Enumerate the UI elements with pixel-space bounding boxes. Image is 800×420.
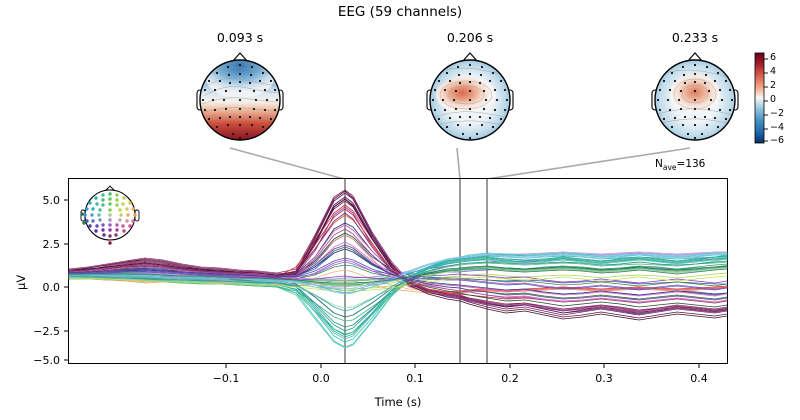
xtick-label-3: 0.2 (480, 372, 540, 385)
butterfly-traces (69, 179, 727, 363)
x-axis-label: Time (s) (268, 395, 528, 409)
butterfly-axes[interactable] (68, 178, 728, 364)
xtick-marks (68, 364, 728, 372)
xtick-label-0: −0.1 (196, 372, 256, 385)
ytick-marks (60, 178, 70, 364)
eeg-joint-plot-figure: EEG (59 channels) 0.093 s (0, 0, 800, 420)
y-axis-label: µV (14, 275, 28, 290)
ytick-label-4: −5.0 (20, 354, 60, 367)
n-ave-subscript: ave (663, 163, 677, 172)
n-ave-annotation: Nave=136 (655, 158, 705, 172)
xtick-label-4: 0.3 (574, 372, 634, 385)
xtick-label-5: 0.4 (669, 372, 729, 385)
n-ave-value: =136 (677, 158, 706, 170)
sensor-layout-inset[interactable] (73, 184, 147, 246)
xtick-label-1: 0.0 (291, 372, 351, 385)
ytick-label-0: 5.0 (20, 194, 60, 207)
n-ave-letter: N (655, 158, 663, 170)
ytick-label-1: 2.5 (20, 238, 60, 251)
ytick-label-3: −2.5 (20, 325, 60, 338)
xtick-label-2: 0.1 (385, 372, 445, 385)
